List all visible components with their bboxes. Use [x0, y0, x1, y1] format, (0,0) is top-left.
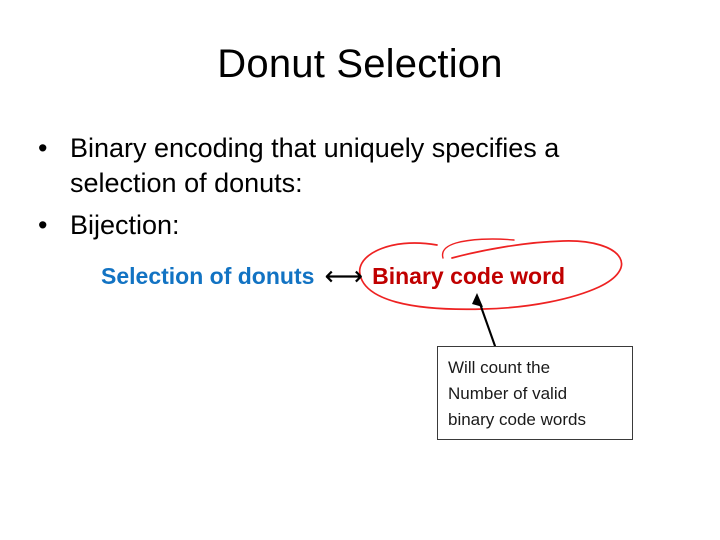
callout-line: binary code words [448, 407, 632, 433]
callout-line: Number of valid [448, 381, 632, 407]
bullet-marker-icon: • [38, 131, 70, 166]
callout-line: Will count the [448, 355, 632, 381]
bijection-mapping: Selection of donuts ⟷ Binary code word [101, 261, 565, 291]
slide-canvas: Donut Selection • Binary encoding that u… [0, 0, 720, 540]
list-item-label: Bijection: [70, 208, 658, 243]
page-title: Donut Selection [0, 42, 720, 86]
list-item: • Bijection: [38, 208, 658, 243]
mapping-right-label: Binary code word [372, 261, 565, 291]
mapping-left-label: Selection of donuts [101, 261, 314, 291]
list-item-label: Binary encoding that uniquely specifies … [70, 131, 658, 201]
double-headed-arrow-icon: ⟷ [314, 261, 372, 291]
callout-box: Will count the Number of valid binary co… [437, 346, 633, 440]
callout-pointer-arrow-icon [472, 293, 495, 346]
list-item: • Binary encoding that uniquely specifie… [38, 131, 658, 201]
bullet-marker-icon: • [38, 208, 70, 243]
